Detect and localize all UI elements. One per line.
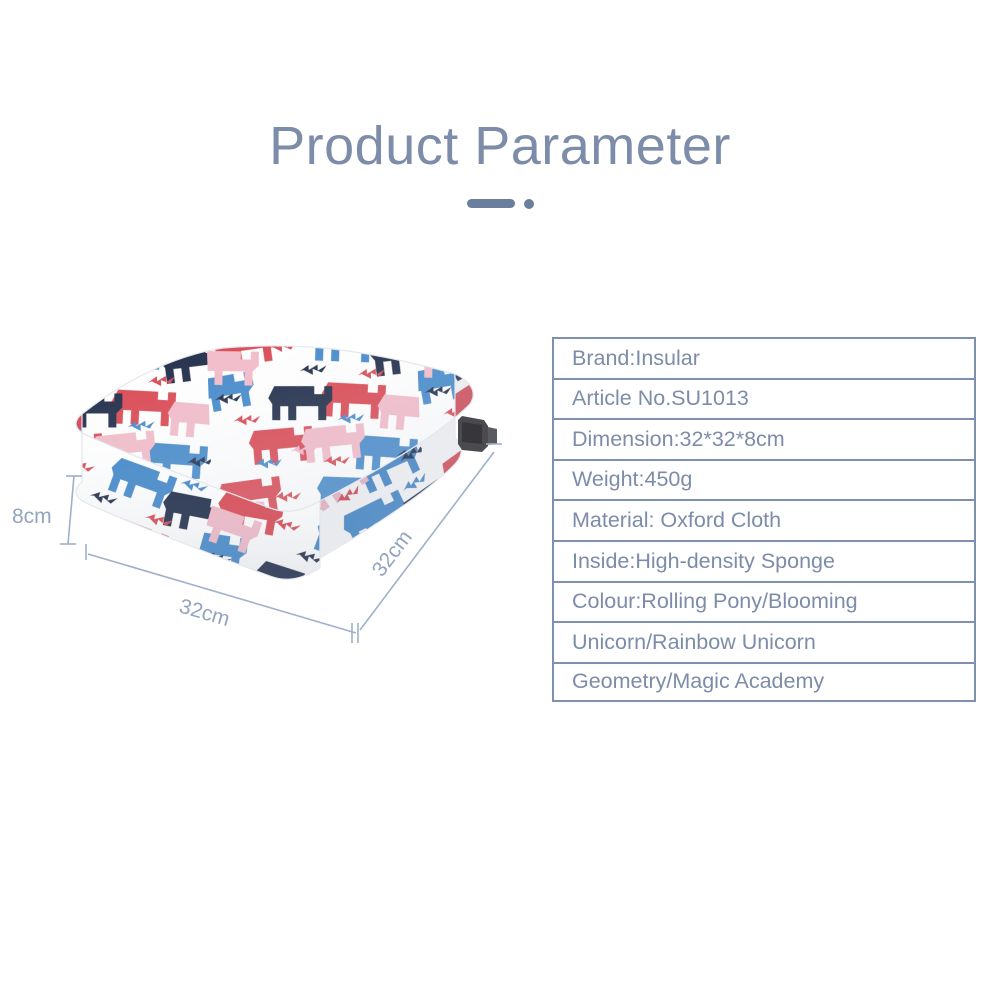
page-title: Product Parameter	[0, 118, 1000, 175]
table-row: Material: Oxford Cloth	[552, 499, 974, 540]
table-row: Inside:High-density Sponge	[552, 540, 974, 581]
page-header: Product Parameter	[0, 118, 1000, 209]
spec-table: Brand:Insular Article No.SU1013 Dimensio…	[552, 337, 976, 702]
buckle-clip-icon	[458, 416, 497, 452]
table-row: Unicorn/Rainbow Unicorn	[552, 621, 974, 662]
spec-label: Inside:High-density Sponge	[554, 551, 835, 573]
dimension-height-label: 8cm	[12, 505, 52, 528]
table-row: Article No.SU1013	[552, 378, 974, 419]
table-row: Geometry/Magic Academy	[552, 662, 974, 703]
spec-label: Brand:Insular	[554, 348, 700, 370]
dimension-width-label: 32cm	[177, 595, 233, 631]
divider-bar-icon	[467, 199, 515, 208]
spec-label: Unicorn/Rainbow Unicorn	[554, 632, 816, 654]
table-row: Weight:450g	[552, 459, 974, 500]
dimension-depth-label: 32cm	[368, 526, 417, 581]
title-divider	[0, 199, 1000, 209]
table-row: Colour:Rolling Pony/Blooming	[552, 581, 974, 622]
divider-dot-icon	[524, 199, 534, 209]
spec-label: Article No.SU1013	[554, 388, 749, 410]
spec-label: Dimension:32*32*8cm	[554, 429, 785, 451]
table-row: Dimension:32*32*8cm	[552, 418, 974, 459]
spec-label: Geometry/Magic Academy	[554, 671, 824, 693]
table-row: Brand:Insular	[552, 337, 974, 378]
product-image: 8cm 32cm 32cm	[0, 326, 545, 656]
spec-label: Material: Oxford Cloth	[554, 510, 781, 532]
spec-label: Colour:Rolling Pony/Blooming	[554, 591, 858, 613]
spec-label: Weight:450g	[554, 469, 692, 491]
